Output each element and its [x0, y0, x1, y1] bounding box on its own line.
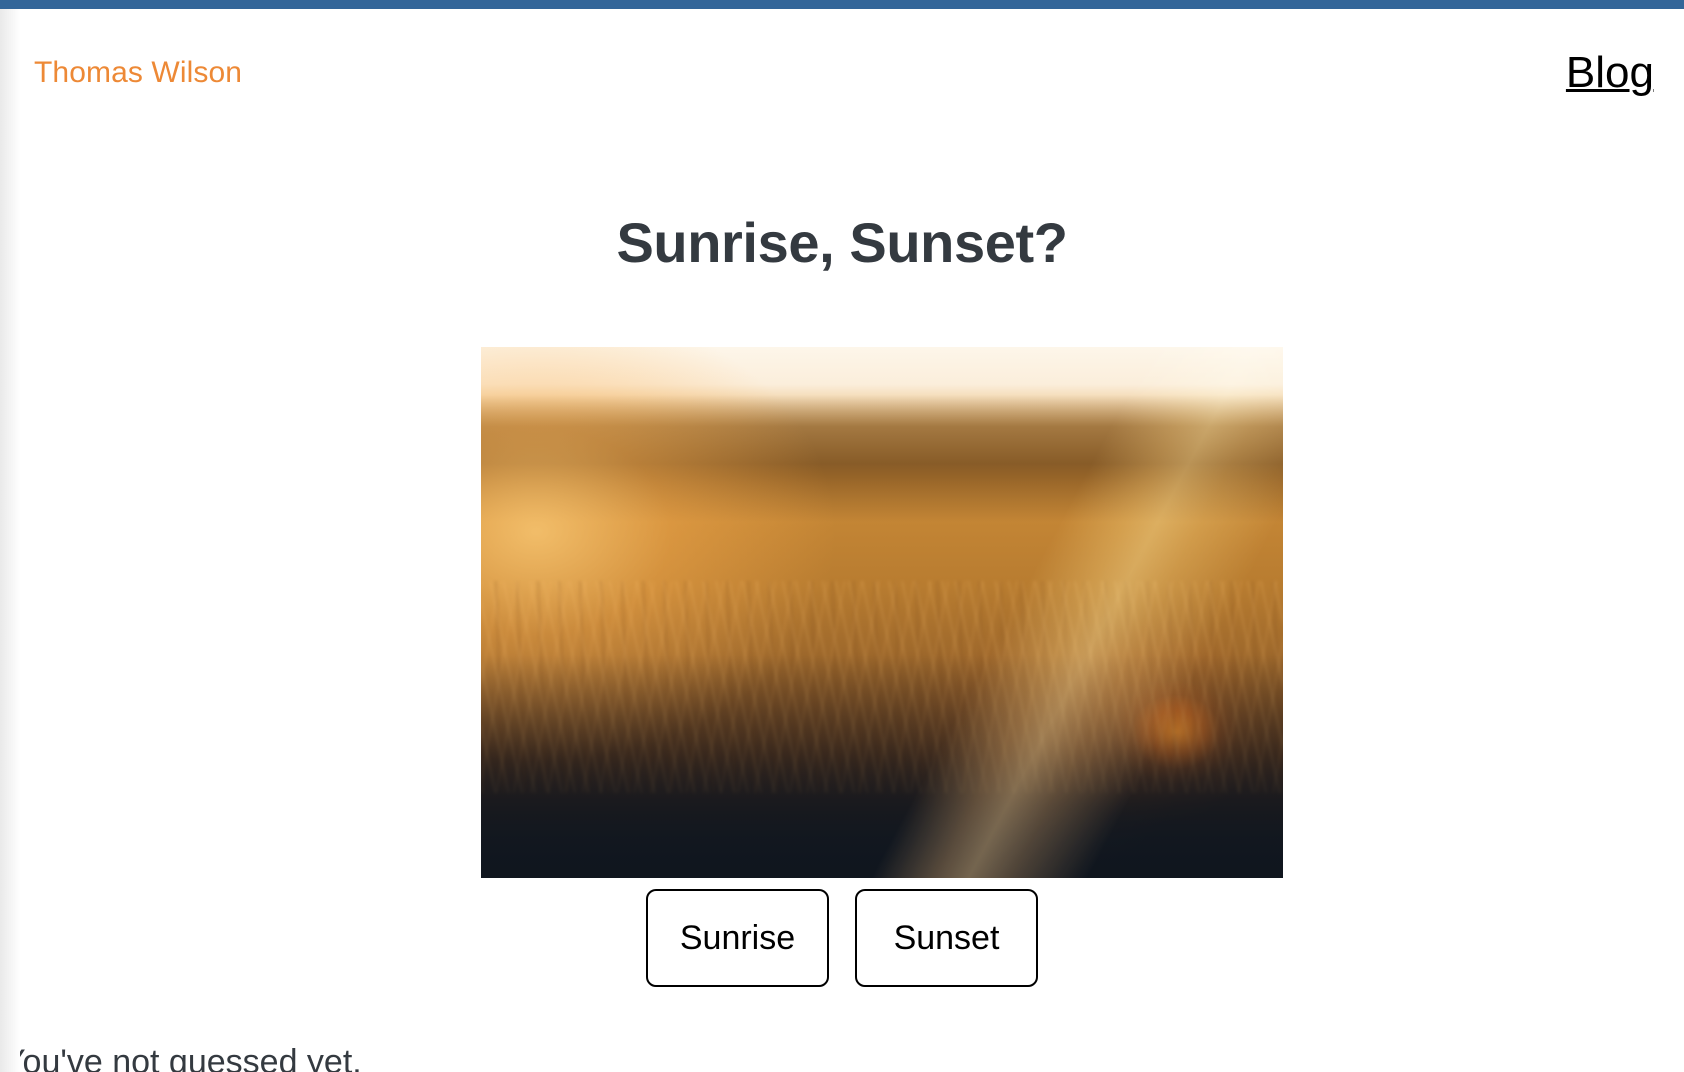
guess-status-message: You've not guessed yet.: [0, 1042, 1684, 1072]
photo-image: [481, 347, 1283, 878]
guess-button-group: Sunrise Sunset: [0, 889, 1684, 987]
main-nav: Blog: [1566, 49, 1654, 97]
guess-sunrise-button[interactable]: Sunrise: [646, 889, 829, 987]
guess-sunset-button[interactable]: Sunset: [855, 889, 1038, 987]
top-accent-bar: [0, 0, 1684, 9]
nav-item-blog[interactable]: Blog: [1566, 48, 1654, 97]
page-root: Thomas Wilson Blog Sunrise, Sunset? Sunr…: [0, 0, 1684, 1072]
main-content: Sunrise, Sunset? Sunrise Sunset: [0, 133, 1684, 923]
page-title: Sunrise, Sunset?: [0, 211, 1684, 275]
site-header: Thomas Wilson Blog: [0, 9, 1684, 133]
brand-link[interactable]: Thomas Wilson: [34, 55, 242, 91]
sunset-field-photo: [481, 347, 1283, 878]
